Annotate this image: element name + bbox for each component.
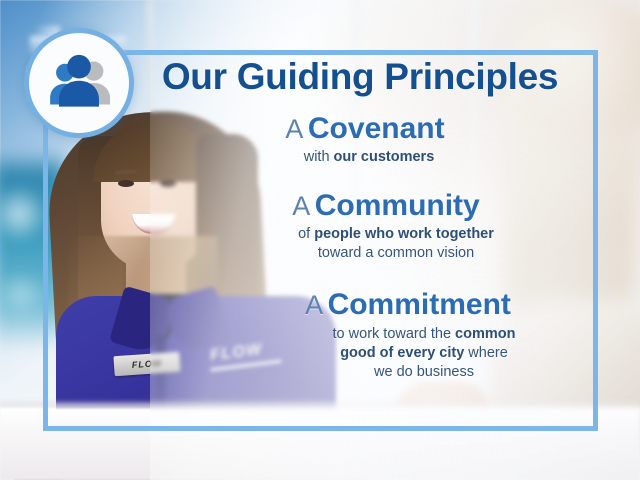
principle-keyword: Commitment (328, 288, 511, 321)
principle-subtext-line: we do business (248, 363, 600, 382)
subtext-run-bold: common (455, 326, 515, 342)
subtext-run: to work toward the (333, 326, 456, 342)
subtext-run-bold: good of every city (340, 345, 464, 361)
principle-subtext: with our customers (120, 148, 600, 167)
text-content: Our Guiding Principles A Covenant with o… (120, 46, 600, 438)
principle-heading: A Community (120, 190, 600, 222)
principle-heading: A Covenant (120, 113, 600, 145)
principle-subtext-line: toward a common vision (192, 244, 600, 263)
subtext-run: with (304, 149, 334, 165)
page-title: Our Guiding Principles (120, 58, 600, 97)
people-group-icon (42, 46, 116, 120)
principle-keyword: Community (315, 189, 480, 222)
principle-commitment: A Commitment to work toward the common g… (120, 289, 600, 382)
principle-subtext-line: good of every city where (248, 344, 600, 363)
subtext-run-bold: people who work together (314, 226, 494, 242)
principle-subtext: to work toward the common good of every … (120, 325, 600, 383)
principle-keyword: Covenant (308, 112, 445, 145)
principle-article: A (292, 191, 310, 221)
principle-subtext-line: to work toward the common (248, 325, 600, 344)
principle-subtext-line: of people who work together (192, 225, 600, 244)
subtext-run-bold: our customers (334, 149, 435, 165)
principle-article: A (305, 290, 323, 320)
graphic-canvas: FLOW FLOW (0, 0, 640, 480)
principle-community: A Community of people who work together … (120, 190, 600, 264)
principle-subtext: of people who work together toward a com… (120, 225, 600, 264)
principle-article: A (285, 114, 303, 144)
principle-subtext-line: with our customers (138, 148, 600, 167)
subtext-run: of (298, 226, 314, 242)
principle-heading: A Commitment (120, 289, 600, 321)
subtext-run: where (464, 345, 508, 361)
principle-covenant: A Covenant with our customers (120, 113, 600, 168)
people-group-badge (24, 28, 134, 138)
